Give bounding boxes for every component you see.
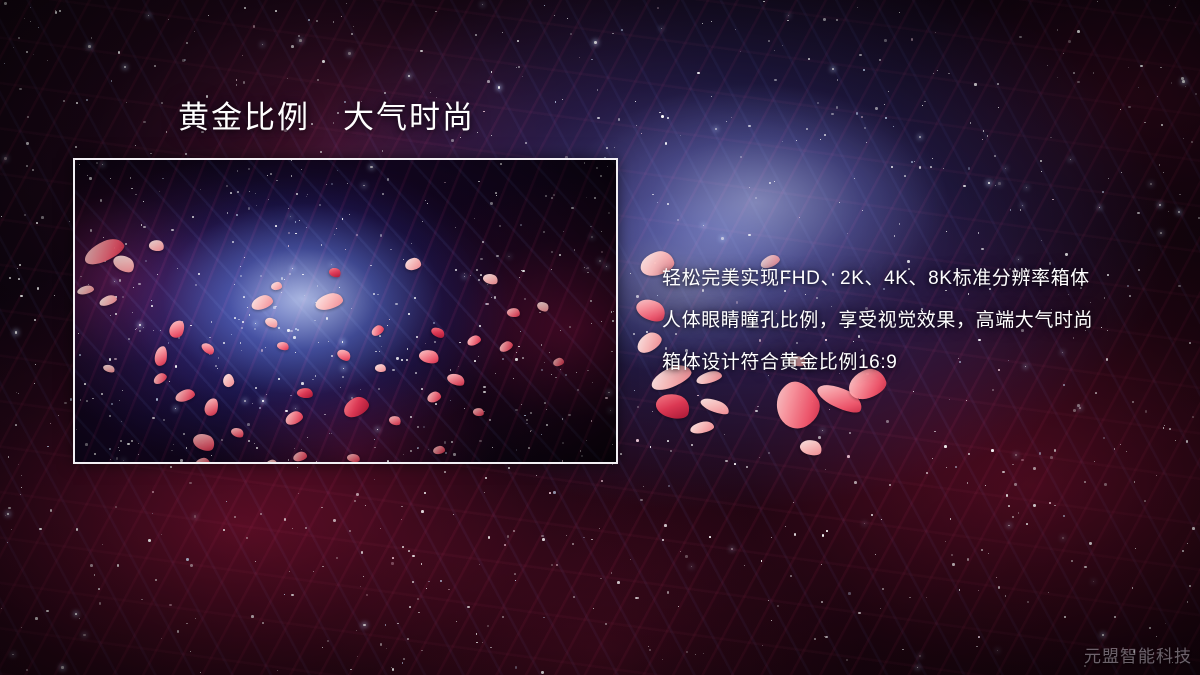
star [740, 156, 742, 158]
star [554, 15, 556, 17]
star [504, 544, 506, 546]
star [354, 500, 357, 503]
star [412, 555, 415, 558]
star [69, 221, 70, 222]
star [1164, 425, 1165, 426]
star [755, 197, 757, 199]
star [978, 590, 979, 591]
star [177, 630, 180, 633]
star [88, 45, 91, 48]
star [635, 597, 637, 599]
star [995, 185, 997, 187]
star [1168, 211, 1169, 212]
star [515, 666, 518, 669]
star [35, 364, 36, 365]
star [777, 605, 779, 607]
star [485, 477, 487, 479]
star [79, 618, 80, 619]
star [573, 596, 575, 598]
star [821, 564, 822, 565]
star [949, 399, 950, 400]
star [657, 202, 658, 203]
star [1033, 504, 1036, 507]
star [541, 535, 543, 537]
star [793, 502, 794, 503]
star [55, 11, 57, 13]
star [715, 128, 717, 130]
star [567, 18, 568, 19]
star [822, 534, 825, 537]
star [911, 161, 913, 163]
star [262, 44, 263, 45]
star [911, 38, 913, 40]
star [667, 117, 669, 119]
star [1102, 191, 1104, 193]
star [55, 10, 56, 11]
star [16, 392, 17, 393]
star [667, 591, 670, 594]
star [190, 564, 193, 567]
star [1050, 456, 1053, 459]
star [491, 135, 492, 136]
star [820, 139, 821, 140]
star [661, 28, 662, 29]
star [460, 137, 461, 138]
star [774, 79, 776, 81]
star [154, 65, 156, 67]
star [952, 563, 954, 565]
star [875, 107, 878, 110]
star [508, 467, 510, 469]
copy-line-2: 人体眼睛瞳孔比例，享受视觉效果，高端大气时尚 [662, 300, 1162, 342]
star [1050, 137, 1052, 139]
star [117, 564, 119, 566]
star [21, 627, 22, 628]
star [317, 79, 319, 81]
star [467, 606, 470, 609]
star [168, 19, 169, 20]
star [11, 529, 12, 530]
star [967, 558, 969, 560]
star [643, 486, 644, 487]
star [476, 633, 478, 635]
star [659, 112, 661, 114]
star [292, 528, 293, 529]
star [242, 55, 243, 56]
star [950, 518, 951, 519]
star [421, 650, 422, 651]
star [349, 530, 351, 532]
star [691, 444, 694, 447]
star [1120, 109, 1121, 110]
star [58, 415, 59, 416]
star [1121, 172, 1122, 173]
star [18, 393, 19, 394]
star [649, 649, 651, 651]
star [357, 656, 358, 657]
star [621, 29, 623, 31]
star [424, 492, 426, 494]
star [298, 35, 300, 37]
star [774, 181, 775, 182]
star [541, 671, 543, 673]
star [21, 475, 22, 476]
star [914, 161, 915, 162]
star [680, 135, 681, 136]
star [618, 118, 621, 121]
star [12, 654, 14, 656]
star [955, 466, 957, 468]
star [549, 492, 551, 494]
star [182, 59, 184, 61]
star [769, 182, 771, 184]
star [606, 147, 608, 149]
star [243, 81, 246, 84]
star [351, 33, 353, 35]
star [854, 178, 855, 179]
star [1179, 194, 1180, 195]
star [909, 597, 911, 599]
star [543, 617, 544, 618]
star [223, 529, 225, 531]
star [1026, 187, 1027, 188]
star [430, 92, 431, 93]
star [1073, 72, 1075, 74]
star [1187, 543, 1188, 544]
star [305, 527, 307, 529]
star [18, 37, 20, 39]
star [321, 507, 323, 509]
star [695, 654, 696, 655]
star [889, 484, 891, 486]
star [1145, 410, 1147, 412]
star [968, 453, 970, 455]
star [994, 155, 996, 157]
star [70, 398, 73, 401]
star [1039, 452, 1042, 455]
star [761, 560, 763, 562]
star [1062, 537, 1064, 539]
star [236, 79, 237, 80]
star [824, 636, 825, 637]
star [785, 526, 786, 527]
star [8, 456, 9, 457]
star [641, 133, 642, 134]
star [1064, 616, 1066, 618]
star [1157, 96, 1158, 97]
star [637, 406, 639, 408]
star [771, 620, 772, 621]
star [1073, 409, 1076, 412]
star [612, 33, 613, 34]
star [477, 132, 478, 133]
star [1108, 178, 1109, 179]
star [1183, 138, 1184, 139]
star [356, 630, 357, 631]
star [884, 39, 887, 42]
star [15, 424, 17, 426]
star [1097, 1, 1098, 2]
star [135, 145, 136, 146]
star [691, 566, 692, 567]
star [111, 80, 113, 82]
star [787, 20, 789, 22]
star [94, 574, 96, 576]
star [1063, 53, 1064, 54]
star [189, 482, 192, 485]
star [996, 577, 997, 578]
star [935, 32, 936, 33]
star [825, 469, 826, 470]
star [522, 76, 523, 77]
star [640, 499, 643, 502]
star [86, 99, 88, 101]
star [657, 7, 659, 9]
star [409, 606, 411, 608]
star [148, 539, 151, 542]
star [59, 10, 61, 12]
star [194, 31, 195, 32]
star [1159, 204, 1161, 206]
star [20, 494, 21, 495]
star [1070, 159, 1071, 160]
star [200, 672, 201, 673]
star [1065, 253, 1067, 255]
star [998, 107, 999, 108]
star [904, 175, 906, 177]
star [992, 389, 994, 391]
star [630, 273, 632, 275]
star [630, 559, 631, 560]
star [1022, 205, 1023, 206]
star [36, 222, 38, 224]
star [976, 646, 978, 648]
star [998, 586, 1000, 588]
star [667, 440, 669, 442]
star [322, 647, 323, 648]
star [421, 563, 423, 565]
star [488, 536, 491, 539]
star [380, 528, 381, 529]
star [933, 73, 934, 74]
star [308, 19, 310, 21]
star [365, 505, 366, 506]
star [591, 59, 592, 60]
star [821, 601, 823, 603]
star [517, 40, 519, 42]
star [899, 223, 900, 224]
star [8, 507, 11, 510]
star [748, 125, 750, 127]
star [983, 130, 985, 132]
star [436, 97, 437, 98]
star [402, 546, 405, 549]
presentation-slide: 黄金比例 大气时尚 轻松完美实现FHD、2K、4K、8K标准分辨率箱体 人体眼睛… [0, 0, 1200, 675]
star [348, 52, 350, 54]
star [762, 645, 763, 646]
star [600, 578, 601, 579]
star [518, 66, 520, 68]
star [98, 588, 100, 590]
copy-line-3: 箱体设计符合黄金比例16:9 [662, 342, 1162, 384]
star [4, 2, 7, 5]
star [817, 102, 820, 105]
star [1019, 36, 1022, 39]
star [418, 612, 419, 613]
star [361, 551, 364, 554]
star [234, 516, 236, 518]
star [611, 572, 612, 573]
star [1094, 461, 1095, 462]
star [605, 623, 607, 625]
star [633, 333, 635, 335]
star [1126, 451, 1127, 452]
star [620, 453, 622, 455]
star [997, 650, 998, 651]
star [444, 471, 446, 473]
star [636, 439, 639, 442]
star [186, 42, 188, 44]
star [824, 134, 826, 136]
star [796, 140, 797, 141]
star [148, 15, 149, 16]
star [862, 210, 863, 211]
star [668, 485, 671, 488]
star [966, 400, 967, 401]
star [636, 295, 639, 298]
star [1178, 211, 1180, 213]
star [919, 166, 922, 169]
star [1195, 93, 1197, 95]
star [403, 658, 405, 660]
star [475, 34, 477, 36]
flower-petal [699, 395, 731, 417]
star [1169, 5, 1170, 6]
star [346, 3, 347, 4]
star [826, 530, 828, 532]
star [703, 653, 704, 654]
star [284, 518, 286, 520]
star [515, 580, 516, 581]
star [768, 452, 770, 454]
star [262, 622, 264, 624]
star [408, 550, 410, 552]
star [161, 102, 163, 104]
star [1021, 459, 1024, 462]
star [15, 331, 18, 334]
star [32, 169, 35, 172]
star [562, 99, 563, 100]
star [861, 116, 863, 118]
star [1191, 141, 1193, 143]
star [1103, 437, 1105, 439]
star [525, 142, 527, 144]
star [875, 554, 876, 555]
star [1054, 449, 1056, 451]
star [46, 610, 49, 613]
star [974, 83, 976, 85]
star [54, 295, 55, 296]
star [735, 29, 736, 30]
star [26, 669, 28, 671]
star [487, 80, 490, 83]
star [601, 480, 603, 482]
star [1063, 384, 1065, 386]
star [866, 142, 867, 143]
star [126, 102, 127, 103]
star [1185, 86, 1186, 87]
star [657, 295, 658, 296]
star [1182, 550, 1184, 552]
star [636, 597, 638, 599]
star [1175, 7, 1176, 8]
star [298, 493, 299, 494]
star [597, 89, 598, 90]
star [794, 533, 796, 535]
star [384, 92, 386, 94]
star [363, 576, 364, 577]
star [1175, 440, 1176, 441]
star [711, 96, 712, 97]
star [76, 528, 79, 531]
star [1014, 483, 1016, 485]
star [1156, 636, 1157, 637]
star [169, 604, 171, 606]
star [963, 185, 965, 187]
star [246, 537, 248, 539]
star [75, 146, 77, 148]
star [583, 537, 585, 539]
star [1169, 428, 1171, 430]
star [1128, 67, 1129, 68]
star [978, 637, 979, 638]
star [847, 455, 850, 458]
star [1128, 106, 1130, 108]
star [1079, 407, 1081, 409]
star [880, 608, 881, 609]
star [479, 564, 481, 566]
star [1084, 481, 1086, 483]
star [1140, 65, 1142, 67]
star [818, 436, 821, 439]
star [768, 600, 769, 601]
star [734, 463, 736, 465]
star [9, 277, 11, 279]
star [490, 647, 492, 649]
star [1077, 404, 1080, 407]
star [435, 11, 437, 13]
star [881, 519, 882, 520]
star [858, 612, 861, 615]
star [634, 390, 635, 391]
star [997, 83, 999, 85]
star [593, 608, 594, 609]
star [1134, 481, 1136, 483]
star [806, 128, 808, 130]
star [4, 157, 7, 160]
star [155, 579, 157, 581]
star [1057, 77, 1058, 78]
star [879, 59, 880, 60]
star [236, 84, 238, 86]
star [516, 67, 517, 68]
star [356, 493, 359, 496]
star [456, 621, 457, 622]
star [948, 73, 950, 75]
star [570, 33, 572, 35]
star [665, 142, 667, 144]
star [836, 106, 839, 109]
